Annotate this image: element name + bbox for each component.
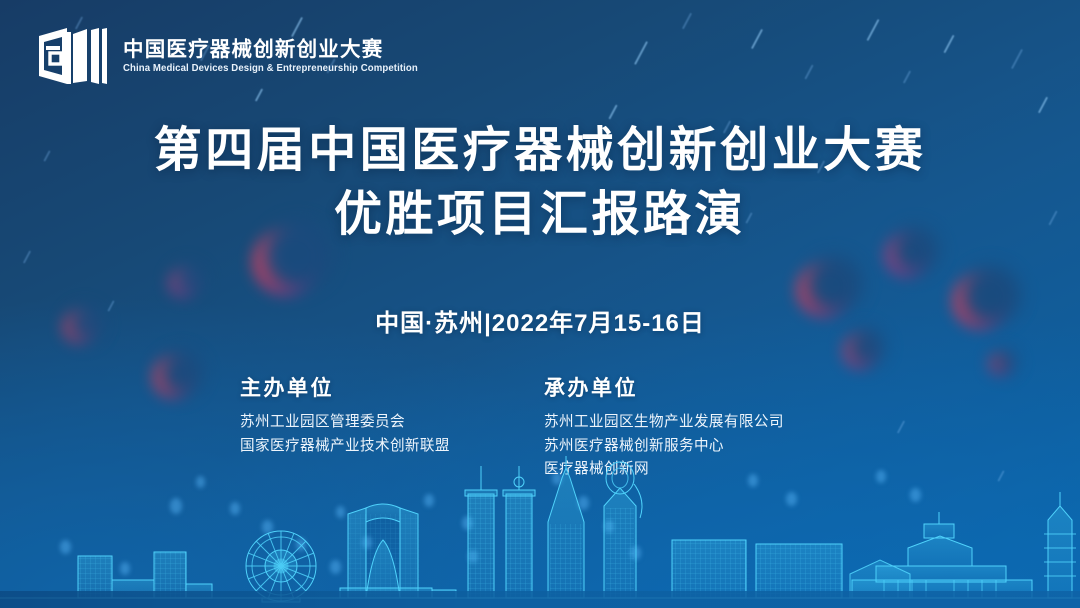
decor-streak — [751, 29, 763, 49]
skyline-base-band — [0, 591, 1080, 608]
city-skyline — [0, 448, 1080, 608]
decor-streak — [634, 41, 648, 65]
decor-streak — [255, 88, 263, 101]
logo-wordmark: 中国医疗器械创新创业大赛 China Medical Devices Desig… — [123, 40, 418, 73]
logo-chinese-name: 中国医疗器械创新创业大赛 — [123, 40, 418, 61]
title-line-1: 第四届中国医疗器械创新创业大赛 — [0, 124, 1080, 178]
logo-english-name: China Medical Devices Design & Entrepren… — [123, 64, 418, 74]
organizer-item: 苏州工业园区管理委员会 — [240, 411, 540, 435]
decor-streak — [804, 64, 813, 79]
decor-streak — [1038, 97, 1048, 114]
poster-canvas: 中国医疗器械创新创业大赛 China Medical Devices Desig… — [0, 0, 1080, 608]
decor-streak — [903, 70, 911, 83]
organizer-title: 主办单位 — [240, 372, 540, 402]
decor-streak — [682, 13, 692, 30]
decor-streak — [1011, 49, 1023, 69]
event-dateline: 中国·苏州|2022年7月15-16日 — [0, 303, 1080, 338]
title-line-2: 优胜项目汇报路演 — [0, 186, 1080, 245]
decor-streak — [866, 19, 879, 41]
organizer-title: 承办单位 — [544, 372, 850, 402]
organizer-item: 苏州工业园区生物产业发展有限公司 — [544, 411, 850, 435]
decor-streak — [943, 35, 954, 54]
decor-blob — [168, 268, 198, 298]
decor-streak — [608, 104, 617, 119]
competition-logo: 中国医疗器械创新创业大赛 China Medical Devices Desig… — [37, 26, 418, 88]
decor-streak — [23, 250, 31, 263]
page-title: 第四届中国医疗器械创新创业大赛 优胜项目汇报路演 — [0, 124, 1080, 244]
open-door-window-icon — [37, 26, 109, 88]
